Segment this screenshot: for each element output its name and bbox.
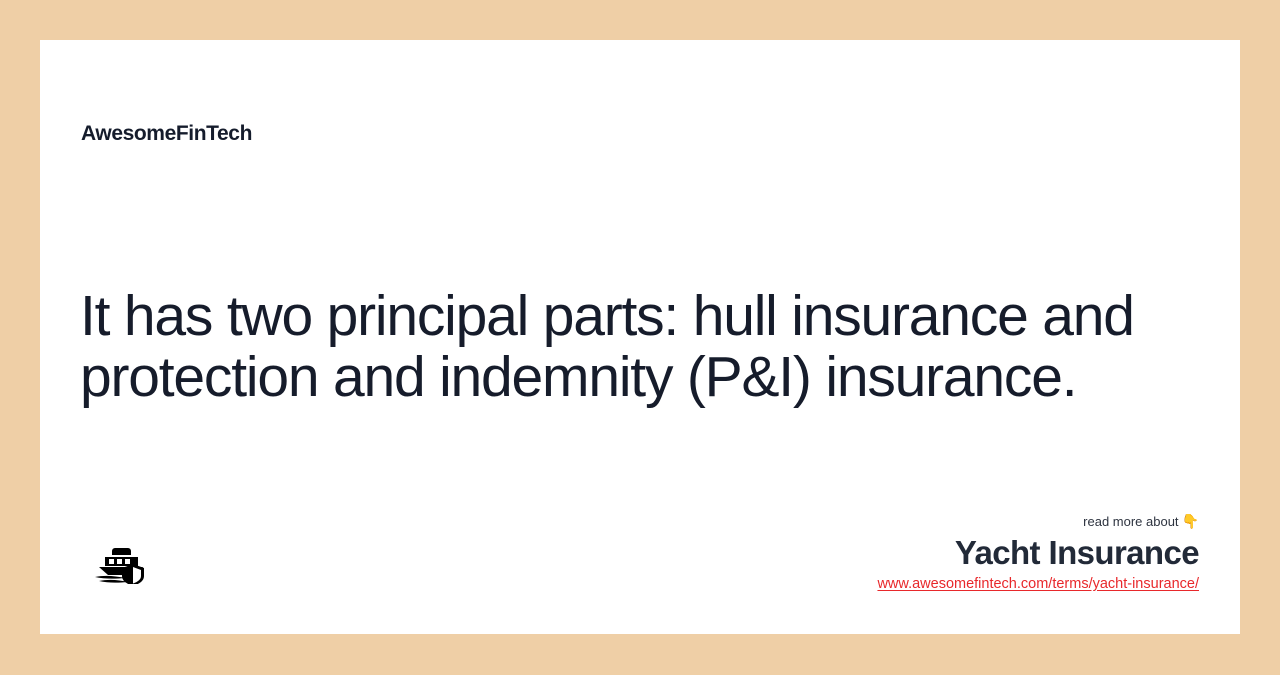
promo-block: read more about👇 Yacht Insurance www.awe… (877, 512, 1199, 594)
brand-logo[interactable]: AwesomeFinTech (81, 120, 252, 148)
point-down-icon: 👇 (1182, 513, 1199, 529)
yacht-shield-icon (93, 546, 149, 584)
promo-title: Yacht Insurance (877, 533, 1199, 573)
promo-url-link[interactable]: www.awesomefintech.com/terms/yacht-insur… (877, 574, 1199, 594)
promo-kicker-text: read more about (1083, 514, 1178, 529)
page-headline: It has two principal parts: hull insuran… (80, 286, 1200, 408)
card-footer: read more about👇 Yacht Insurance www.awe… (40, 494, 1240, 634)
content-card: AwesomeFinTech It has two principal part… (40, 40, 1240, 634)
promo-kicker: read more about👇 (877, 512, 1199, 531)
page-background: AwesomeFinTech It has two principal part… (0, 0, 1280, 675)
